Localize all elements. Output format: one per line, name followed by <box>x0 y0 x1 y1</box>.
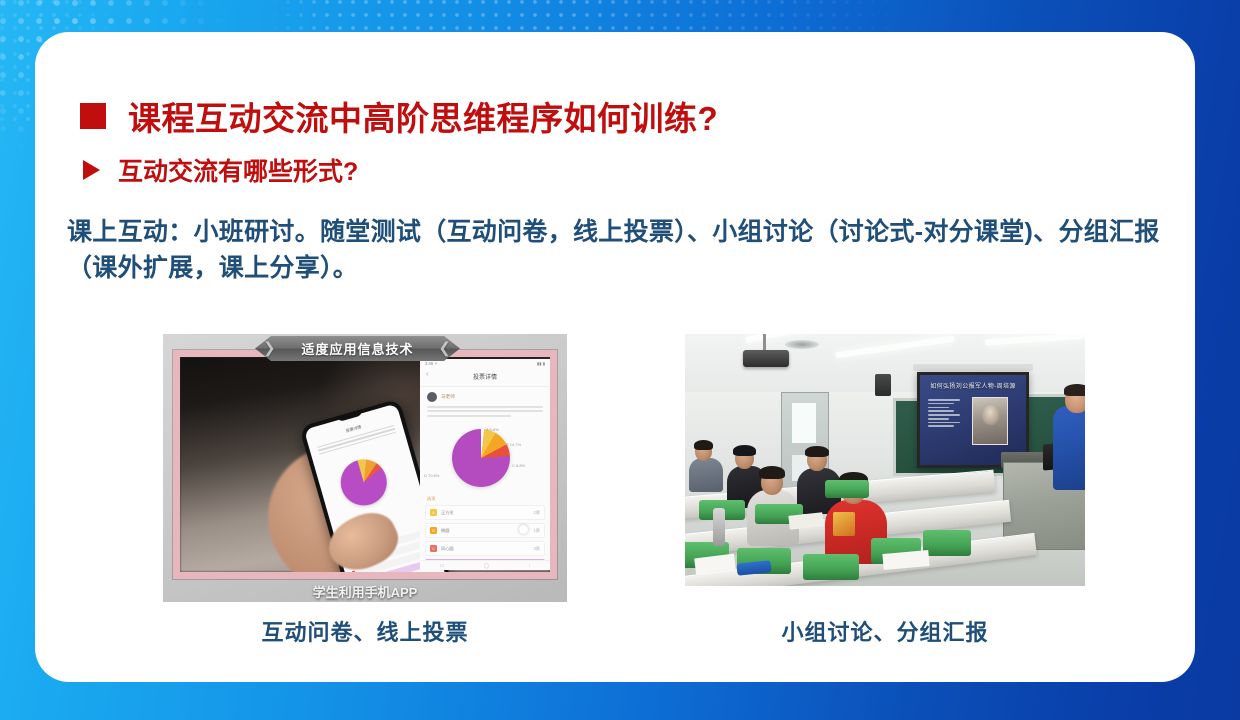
option-count-c: 3票 <box>533 546 540 552</box>
avatar <box>427 392 437 402</box>
figure-ribbon-banner: ❯ 适度应用信息技术 ❮ <box>255 336 460 361</box>
phone-pie-chart <box>336 454 393 511</box>
figure-phone-app-voting: 投票详情 <box>163 334 567 602</box>
voting-app-panel: 3:46 ⚡ ▮▮ ▮ ‹ 投票详情 马老师 <box>420 359 550 570</box>
student-hair <box>759 466 785 479</box>
figure-caption-left: 互动问卷、线上投票 <box>163 615 567 647</box>
pie-label-c: C 8.8% <box>512 463 525 468</box>
photo-content: 投票详情 <box>180 357 550 572</box>
student-hair <box>805 446 829 457</box>
app-navbar-title: 投票详情 <box>473 375 497 381</box>
status-left: 3:46 ⚡ <box>425 361 437 366</box>
thermos-bottle <box>713 508 725 546</box>
drag-handle[interactable] <box>519 525 528 534</box>
chevron-right-icon: ❯ <box>263 339 277 357</box>
app-navbar: ‹ 投票详情 <box>420 368 550 387</box>
projection-screen-text <box>928 399 960 429</box>
option-count-a: 2票 <box>533 510 540 516</box>
presenting-student-hair <box>1064 384 1085 396</box>
student-hair <box>733 445 756 456</box>
chair <box>825 480 869 498</box>
option-key-c: C <box>430 545 437 552</box>
portrait-photo <box>972 397 1008 445</box>
figure-classroom-group-report: 如何弘扬刘公报军人物-周培源 <box>685 334 1085 586</box>
presenting-student-body <box>1053 406 1085 490</box>
projection-screen-roller <box>913 364 1033 371</box>
photo-pink-frame: 投票详情 <box>173 350 557 579</box>
student <box>689 458 723 492</box>
poll-author-name: 马老师 <box>441 394 455 400</box>
pie-slices <box>452 429 510 487</box>
figure-overlay-caption: 学生利用手机APP <box>163 582 567 601</box>
projection-screen-title: 如何弘扬刘公报军人物-周培源 <box>920 381 1026 390</box>
options-header: 选项 <box>420 495 550 505</box>
figure-ribbon-text: 适度应用信息技术 <box>301 339 413 358</box>
poll-question-text <box>420 404 550 423</box>
poll-option-c[interactable]: C 同心圆 3票 <box>425 541 545 556</box>
student-desks-area <box>685 482 1085 586</box>
pie-label-d: D 70.6% <box>424 473 439 478</box>
pie-label-a: A 5.8% <box>486 427 499 432</box>
poll-pie-chart: A 5.8% B 14.7% C 8.8% D 70.6% <box>420 423 550 495</box>
chair <box>803 554 859 580</box>
option-label-a: 正方形 <box>441 510 454 516</box>
slide-content-card: 课程互动交流中高阶思维程序如何训练? 互动交流有哪些形式? 课上互动：小班研讨。… <box>35 32 1195 682</box>
slide-canvas: 课程互动交流中高阶思维程序如何训练? 互动交流有哪些形式? 课上互动：小班研讨。… <box>0 0 1240 720</box>
poll-author: 马老师 <box>420 387 550 404</box>
back-icon[interactable]: ‹ <box>529 563 531 569</box>
pie-label-b: B 14.7% <box>506 442 521 447</box>
home-icon[interactable]: ◯ <box>484 563 490 569</box>
door-window <box>792 403 816 443</box>
chevron-left-icon[interactable]: ‹ <box>426 371 428 378</box>
tshirt-graphic <box>833 512 855 536</box>
projector <box>743 350 789 367</box>
figure-caption-right: 小组讨论、分组汇报 <box>685 615 1085 647</box>
recents-icon[interactable]: ▭ <box>440 563 445 569</box>
figure-area: 投票详情 <box>35 32 1195 682</box>
chevron-left-icon: ❮ <box>438 339 452 357</box>
status-right: ▮▮ ▮ <box>537 361 545 366</box>
option-key-b: B <box>430 527 437 534</box>
poll-option-a[interactable]: A 正方形 2票 <box>425 505 545 520</box>
chair <box>923 530 971 556</box>
ceiling-fan <box>785 340 819 349</box>
option-label-b: 椭圆 <box>441 528 449 534</box>
option-key-a: A <box>430 509 437 516</box>
android-navigation-bar: ▭ ◯ ‹ <box>420 560 550 570</box>
option-label-c: 同心圆 <box>441 546 454 552</box>
student-hair <box>694 440 713 450</box>
option-count-b: 1票 <box>533 528 540 534</box>
wall-speaker <box>875 374 891 396</box>
